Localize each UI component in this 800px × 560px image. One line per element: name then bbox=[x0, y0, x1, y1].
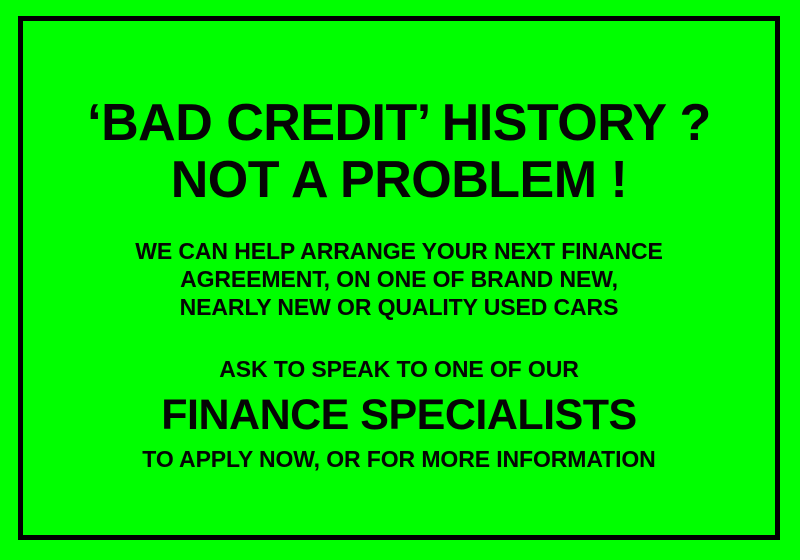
headline-line-2: NOT A PROBLEM ! bbox=[23, 152, 775, 209]
cta-emphasis-line: FINANCE SPECIALISTS bbox=[23, 389, 775, 441]
body-line-1: WE CAN HELP ARRANGE YOUR NEXT FINANCE bbox=[23, 237, 775, 265]
body-paragraph: WE CAN HELP ARRANGE YOUR NEXT FINANCE AG… bbox=[23, 237, 775, 321]
cta-tail-line: TO APPLY NOW, OR FOR MORE INFORMATION bbox=[23, 445, 775, 473]
poster-content: ‘BAD CREDIT’ HISTORY ? NOT A PROBLEM ! W… bbox=[23, 21, 775, 535]
cta-lead-line: ASK TO SPEAK TO ONE OF OUR bbox=[23, 355, 775, 383]
advertisement-poster: ‘BAD CREDIT’ HISTORY ? NOT A PROBLEM ! W… bbox=[0, 0, 800, 560]
call-to-action-block: ASK TO SPEAK TO ONE OF OUR FINANCE SPECI… bbox=[23, 355, 775, 473]
body-line-2: AGREEMENT, ON ONE OF BRAND NEW, bbox=[23, 265, 775, 293]
headline-line-1: ‘BAD CREDIT’ HISTORY ? bbox=[23, 95, 775, 152]
headline-block: ‘BAD CREDIT’ HISTORY ? NOT A PROBLEM ! bbox=[23, 95, 775, 209]
body-line-3: NEARLY NEW OR QUALITY USED CARS bbox=[23, 293, 775, 321]
